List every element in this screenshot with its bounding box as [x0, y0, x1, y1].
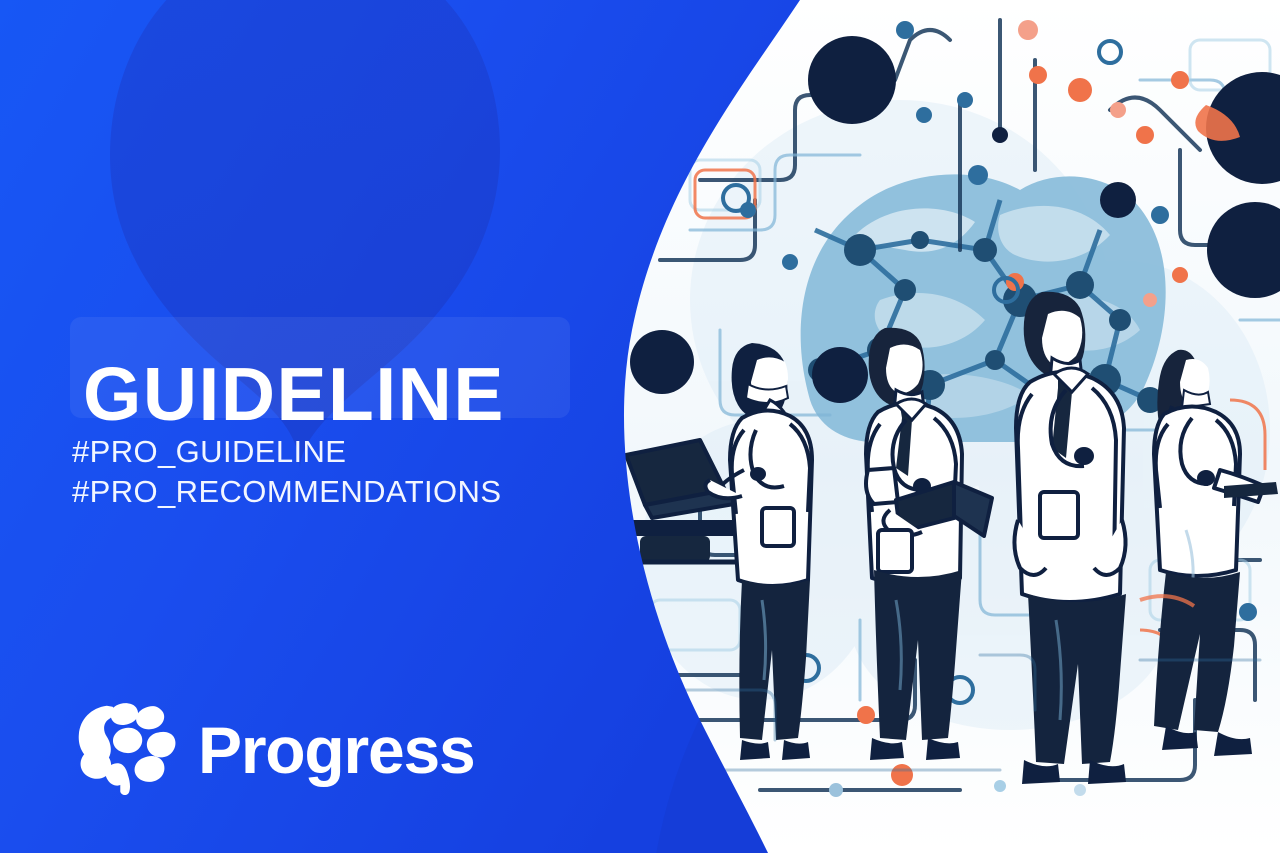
tagline-line-2: #PRO_RECOMMENDATIONS: [72, 472, 501, 512]
brain-icon: [74, 700, 182, 796]
progress-wordmark: Progress: [198, 717, 475, 783]
guideline-banner: GUIDELINE #PRO_GUIDELINE #PRO_RECOMMENDA…: [0, 0, 1280, 853]
tagline-line-1: #PRO_GUIDELINE: [72, 432, 501, 472]
tagline: #PRO_GUIDELINE #PRO_RECOMMENDATIONS: [72, 432, 501, 512]
page-title: GUIDELINE: [83, 357, 505, 432]
progress-logo: Progress: [74, 700, 475, 796]
banner-content: GUIDELINE #PRO_GUIDELINE #PRO_RECOMMENDA…: [0, 0, 1280, 853]
